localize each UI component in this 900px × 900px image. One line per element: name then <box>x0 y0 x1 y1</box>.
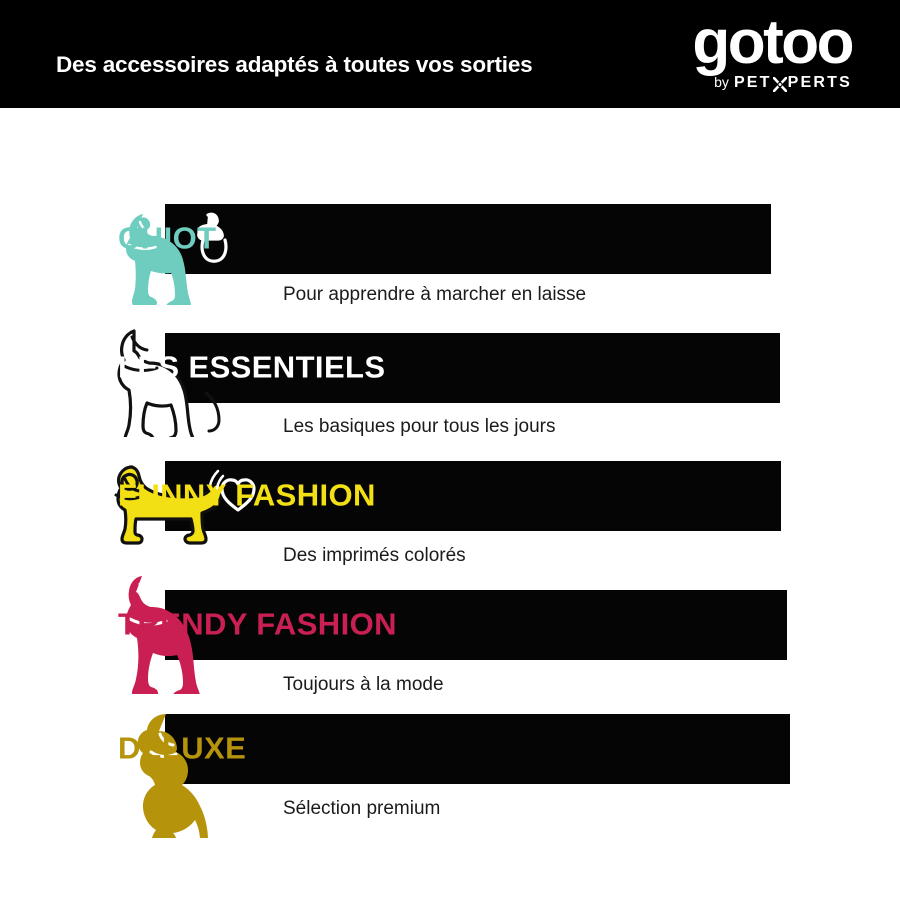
category-bar <box>165 714 790 784</box>
category-subtitle: Les basiques pour tous les jours <box>283 416 556 438</box>
category-label: FUNNY FASHION <box>118 477 376 513</box>
category-subtitle: Sélection premium <box>283 798 440 820</box>
category-label: LES ESSENTIELS <box>118 349 385 385</box>
logo-brand-prefix: PET <box>734 74 772 92</box>
header-bar: Des accessoires adaptés à toutes vos sor… <box>0 0 900 108</box>
category-subtitle: Pour apprendre à marcher en laisse <box>283 284 586 306</box>
category-bar <box>165 204 771 274</box>
category-subtitle: Toujours à la mode <box>283 674 444 696</box>
category-label: CHIOT <box>118 220 216 256</box>
logo-brand-name: PET PERTS <box>734 74 852 92</box>
brand-logo: gotoo by PET PERTS <box>662 18 852 94</box>
category-subtitle: Des imprimés colorés <box>283 545 466 567</box>
category-label: TRENDY FASHION <box>118 606 397 642</box>
logo-subline: by PET PERTS <box>714 74 852 92</box>
x-paw-icon <box>773 77 787 92</box>
logo-brand-suffix: PERTS <box>788 74 852 92</box>
category-list: CHIOT Pour apprendre à marcher en laisse… <box>0 108 900 900</box>
page-title: Des accessoires adaptés à toutes vos sor… <box>56 52 532 78</box>
infographic-page: Des accessoires adaptés à toutes vos sor… <box>0 0 900 900</box>
category-label: DELUXE <box>118 730 246 766</box>
logo-wordmark: gotoo <box>662 12 852 74</box>
logo-by-label: by <box>714 74 729 90</box>
poodle-icon <box>122 710 252 838</box>
